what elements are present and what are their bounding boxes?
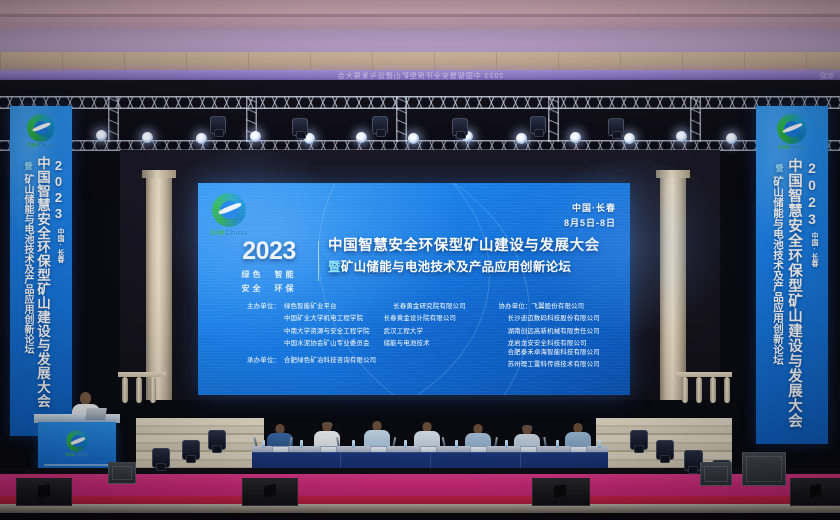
banner-location: 中国·长春 <box>809 232 819 267</box>
stage-pillar-right <box>660 176 686 400</box>
vertical-banner-right: GIMChina 2023 中国·长春 中国智慧安全环保型矿山建设与发展大会 暨… <box>756 106 828 444</box>
baluster <box>136 377 142 403</box>
gim-wordmark-en: GIM <box>27 143 38 149</box>
podium-text-line <box>44 464 110 466</box>
baluster <box>696 377 702 403</box>
floor-moving-head-light <box>630 430 648 450</box>
moving-head-light <box>530 116 546 134</box>
spotlight <box>356 132 367 143</box>
stage-monitor-speaker <box>16 478 72 506</box>
truss-vertical-leg <box>548 96 559 142</box>
stage-pillar-left <box>146 176 172 400</box>
baluster <box>682 377 688 403</box>
pillar-capital-left <box>142 170 176 178</box>
banner-title-sub: 矿山储能与电池技术及产品应用创新论坛 <box>20 174 35 354</box>
spotlight <box>570 132 581 143</box>
stage-front-edge <box>0 504 840 513</box>
floor-moving-head-light <box>182 440 200 460</box>
spotlight <box>96 130 107 141</box>
banner-year: 2023 <box>51 158 66 222</box>
spotlight <box>726 133 737 144</box>
gim-logo-mark <box>27 114 55 142</box>
baluster <box>724 377 730 403</box>
moving-head-light <box>372 116 388 134</box>
water-bottle <box>455 440 458 448</box>
spotlight <box>676 131 687 142</box>
stage-monitor-speaker <box>242 478 298 506</box>
truss-vertical-leg <box>108 96 119 142</box>
baluster <box>122 377 128 403</box>
banner-title-main: 中国智慧安全环保型矿山建设与发展大会 <box>784 158 805 428</box>
gim-china-logo: GIMChina <box>65 430 88 457</box>
truss-vertical-leg <box>690 96 701 142</box>
banner-title-sub: 矿山储能与电池技术及产品应用创新论坛 <box>771 176 786 365</box>
water-bottle <box>556 440 559 448</box>
spotlight <box>250 131 261 142</box>
gim-wordmark-cn: China <box>75 452 89 457</box>
water-bottle <box>300 440 303 448</box>
equipment-flight-case <box>742 452 786 486</box>
stage-apron-shadow <box>0 513 840 520</box>
gim-logo-mark <box>777 114 807 144</box>
water-bottle <box>598 440 601 448</box>
gim-wordmark-cn: China <box>789 145 806 151</box>
spotlight <box>516 133 527 144</box>
pillar-capital-right <box>656 170 690 178</box>
spotlight <box>196 133 207 144</box>
banner-title-amp: 暨 <box>774 164 785 172</box>
gim-wordmark-cn: China <box>38 143 55 149</box>
vertical-banner-left: GIMChina 2023 中国·长春 中国智慧安全环保型矿山建设与发展大会 暨… <box>10 106 72 436</box>
truss-vertical-leg <box>396 96 407 142</box>
spotlight <box>624 133 635 144</box>
spotlight <box>408 133 419 144</box>
banner-title-amp: 暨 <box>23 162 34 170</box>
baluster <box>710 377 716 403</box>
gim-logo-mark <box>66 430 88 452</box>
floor-moving-head-light <box>208 430 226 450</box>
moving-head-light <box>292 118 308 136</box>
gim-wordmark: GIMChina <box>65 452 88 457</box>
gim-wordmark-en: GIM <box>778 145 789 151</box>
floor-moving-head-light <box>152 448 170 468</box>
conference-stage-photo: 2023 中国智慧安全环保型矿山建设与发展大会 欢迎 <box>0 0 840 520</box>
gim-wordmark-en: GIM <box>65 452 74 457</box>
water-bottle <box>404 440 407 448</box>
gim-wordmark: GIMChina <box>777 145 807 151</box>
baluster <box>150 377 156 403</box>
water-bottle <box>352 440 355 448</box>
gim-china-logo: GIMChina <box>27 114 55 149</box>
water-bottle <box>505 440 508 448</box>
floor-moving-head-light <box>656 440 674 460</box>
gim-china-logo: GIMChina <box>777 114 807 151</box>
equipment-flight-case <box>108 462 136 484</box>
banner-year: 2023 <box>804 160 820 228</box>
water-bottle <box>262 440 265 448</box>
moving-head-light <box>608 118 624 136</box>
led-pixel-scanlines <box>198 183 630 395</box>
equipment-flight-case <box>700 462 732 486</box>
lighting-truss-upper <box>0 96 840 109</box>
stage-monitor-speaker <box>532 478 590 506</box>
gim-wordmark: GIMChina <box>27 143 55 149</box>
stage-monitor-speaker <box>790 478 840 506</box>
banner-title-main: 中国智慧安全环保型矿山建设与发展大会 <box>32 156 52 408</box>
spotlight <box>142 132 153 143</box>
banner-location: 中国·长春 <box>55 228 65 263</box>
main-led-screen: GIMChina 中国·长春 8月5日-8日 2023 绿色 智能 安全 环保 … <box>198 183 630 395</box>
moving-head-light <box>452 118 468 136</box>
moving-head-light <box>210 116 226 134</box>
podium-laptop <box>85 408 107 420</box>
ceiling-molding <box>0 14 840 17</box>
stone-fascia-band <box>0 52 840 72</box>
